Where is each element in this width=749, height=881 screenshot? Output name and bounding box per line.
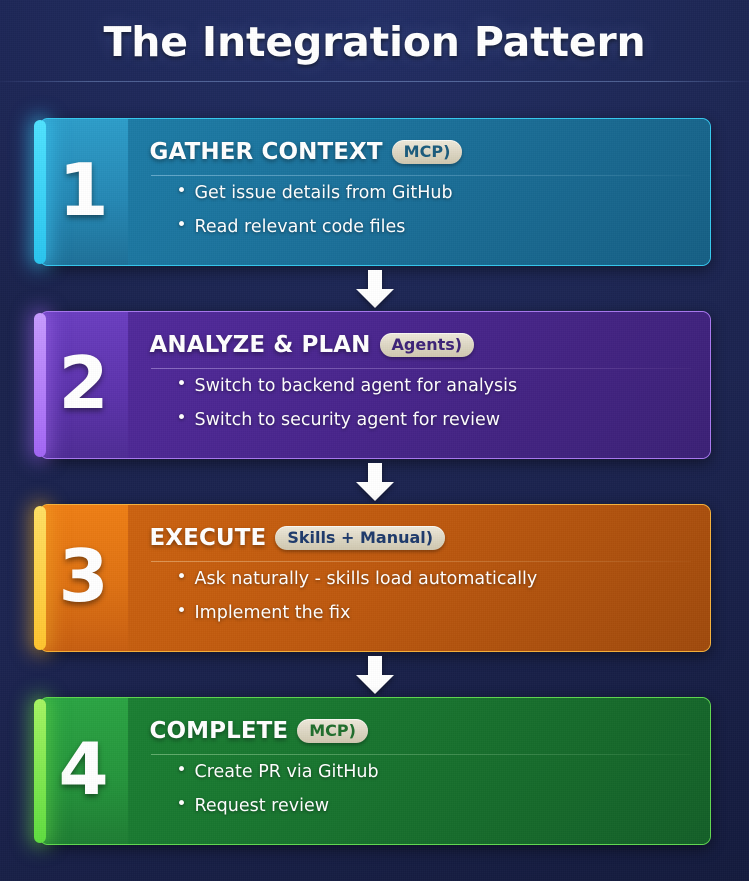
connector-arrow-1: [0, 266, 749, 311]
step-item-1: 1 GATHER CONTEXT MCP) Get issue details …: [0, 118, 749, 266]
bullet-item: Read relevant code files: [177, 219, 694, 237]
step-content-2: ANALYZE & PLAN Agents) Switch to backend…: [128, 312, 710, 458]
arrow-down-icon: [352, 463, 398, 503]
step-card-wrap-1: 1 GATHER CONTEXT MCP) Get issue details …: [39, 118, 711, 266]
step-bullets-2: Switch to backend agent for analysis Swi…: [150, 369, 694, 429]
bullet-item: Switch to security agent for review: [177, 412, 694, 430]
arrow-down-icon: [352, 270, 398, 310]
step-card-wrap-4: 4 COMPLETE MCP) Create PR via GitHub Req…: [39, 697, 711, 845]
step-number-panel-1: 1: [40, 119, 128, 265]
step-title-3: EXECUTE: [150, 525, 267, 551]
step-number-1: 1: [58, 154, 108, 226]
step-number-panel-3: 3: [40, 505, 128, 651]
bullet-item: Request review: [177, 798, 694, 816]
step-number-panel-2: 2: [40, 312, 128, 458]
step-card-wrap-2: 2 ANALYZE & PLAN Agents) Switch to backe…: [39, 311, 711, 459]
bullet-item: Switch to backend agent for analysis: [177, 378, 694, 396]
arrow-down-icon: [352, 656, 398, 696]
step-number-2: 2: [58, 347, 108, 419]
steps-list: 1 GATHER CONTEXT MCP) Get issue details …: [0, 118, 749, 845]
step-badge-2: Agents): [380, 333, 475, 357]
step-number-3: 3: [58, 540, 108, 612]
step-title-row-2: ANALYZE & PLAN Agents): [150, 330, 694, 360]
header-divider: [0, 81, 749, 82]
slide-header: The Integration Pattern: [0, 0, 749, 82]
step-title-row-3: EXECUTE Skills + Manual): [150, 523, 694, 553]
bullet-item: Get issue details from GitHub: [177, 185, 694, 203]
step-title-2: ANALYZE & PLAN: [150, 332, 371, 358]
connector-arrow-2: [0, 459, 749, 504]
step-title-row-1: GATHER CONTEXT MCP): [150, 137, 694, 167]
bullet-item: Implement the fix: [177, 605, 694, 623]
step-title-row-4: COMPLETE MCP): [150, 716, 694, 746]
step-item-3: 3 EXECUTE Skills + Manual) Ask naturally…: [0, 504, 749, 652]
step-card-2[interactable]: 2 ANALYZE & PLAN Agents) Switch to backe…: [39, 311, 711, 459]
step-content-3: EXECUTE Skills + Manual) Ask naturally -…: [128, 505, 710, 651]
bullet-item: Create PR via GitHub: [177, 764, 694, 782]
step-content-4: COMPLETE MCP) Create PR via GitHub Reque…: [128, 698, 710, 844]
step-card-1[interactable]: 1 GATHER CONTEXT MCP) Get issue details …: [39, 118, 711, 266]
step-bullets-3: Ask naturally - skills load automaticall…: [150, 562, 694, 622]
step-badge-3: Skills + Manual): [275, 526, 445, 550]
step-title-1: GATHER CONTEXT: [150, 139, 383, 165]
step-card-4[interactable]: 4 COMPLETE MCP) Create PR via GitHub Req…: [39, 697, 711, 845]
step-badge-1: MCP): [392, 140, 463, 164]
page-title: The Integration Pattern: [0, 18, 749, 66]
step-number-panel-4: 4: [40, 698, 128, 844]
step-item-2: 2 ANALYZE & PLAN Agents) Switch to backe…: [0, 311, 749, 459]
step-content-1: GATHER CONTEXT MCP) Get issue details fr…: [128, 119, 710, 265]
step-item-4: 4 COMPLETE MCP) Create PR via GitHub Req…: [0, 697, 749, 845]
step-card-wrap-3: 3 EXECUTE Skills + Manual) Ask naturally…: [39, 504, 711, 652]
step-bullets-4: Create PR via GitHub Request review: [150, 755, 694, 815]
slide-root: The Integration Pattern 1 GATHER CONTEXT…: [0, 0, 749, 881]
step-card-3[interactable]: 3 EXECUTE Skills + Manual) Ask naturally…: [39, 504, 711, 652]
step-title-4: COMPLETE: [150, 718, 289, 744]
step-number-4: 4: [58, 733, 108, 805]
step-badge-4: MCP): [297, 719, 368, 743]
connector-arrow-3: [0, 652, 749, 697]
step-bullets-1: Get issue details from GitHub Read relev…: [150, 176, 694, 236]
bullet-item: Ask naturally - skills load automaticall…: [177, 571, 694, 589]
